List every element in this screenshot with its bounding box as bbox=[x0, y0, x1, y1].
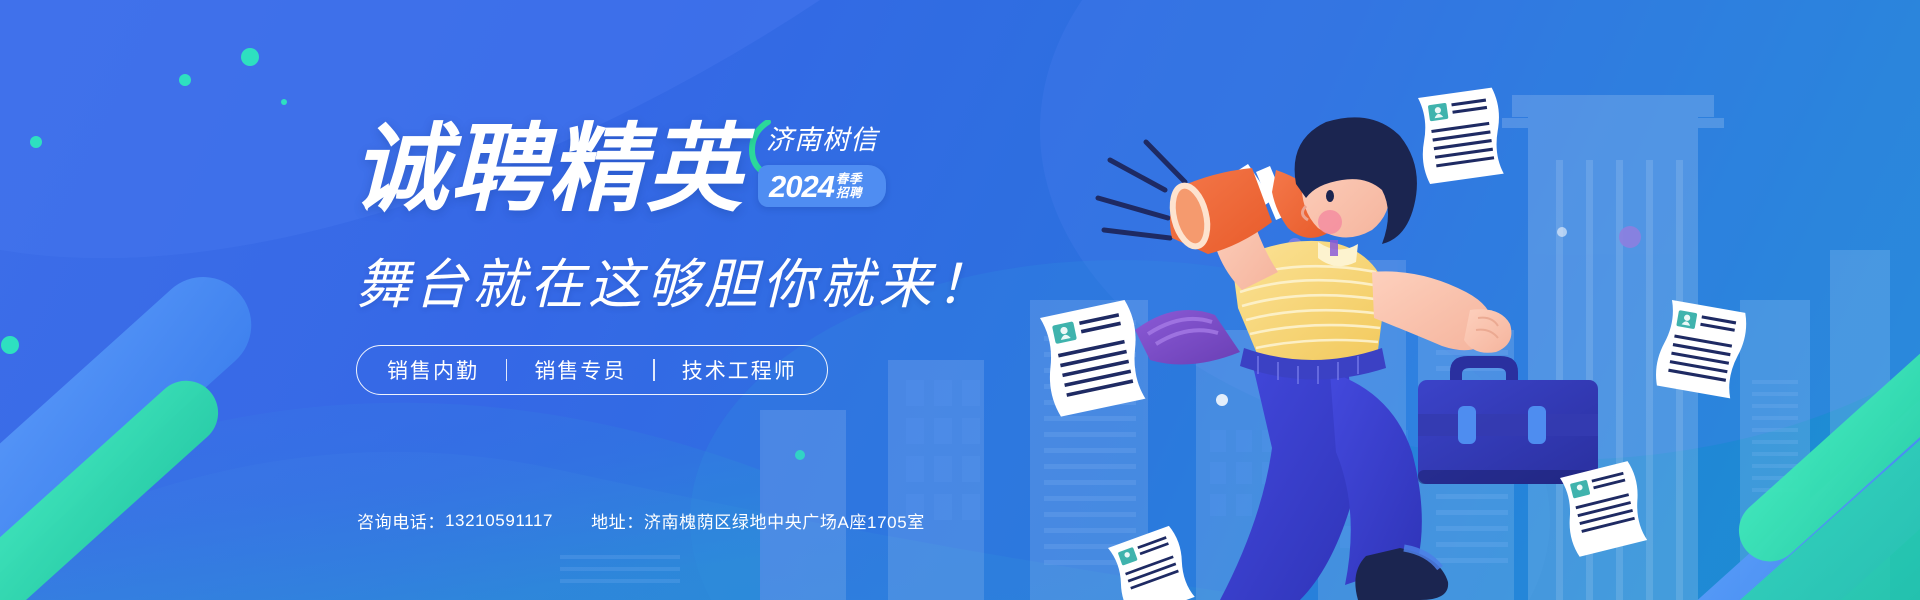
recruitment-banner: 诚聘精英 济南树信 2024 春季 招聘 舞台就在这够胆你就来！ 销售内勤 销 bbox=[0, 0, 1920, 600]
phone-value[interactable]: 13210591117 bbox=[445, 511, 553, 531]
tag-separator bbox=[506, 359, 507, 381]
badge-season-line1: 春季 bbox=[836, 172, 862, 186]
address-label: 地址： bbox=[591, 508, 644, 533]
badge-year: 2024 bbox=[769, 171, 834, 202]
tag-separator bbox=[653, 359, 654, 381]
job-tags-pill: 销售内勤 销售专员 技术工程师 bbox=[356, 345, 828, 395]
resume-paper-icon bbox=[1414, 87, 1507, 184]
year-badge: 2024 春季 招聘 bbox=[758, 165, 886, 207]
phone-label: 咨询电话： bbox=[357, 508, 445, 533]
badge-season: 春季 招聘 bbox=[836, 172, 862, 200]
brand-badge-group: 济南树信 2024 春季 招聘 bbox=[758, 124, 908, 207]
address-value: 济南槐荫区绿地中央广场A座1705室 bbox=[644, 508, 925, 533]
job-tag-sales-office[interactable]: 销售内勤 bbox=[387, 355, 479, 385]
resume-paper-icon bbox=[1036, 299, 1150, 417]
page-title: 诚聘精英 bbox=[352, 118, 744, 222]
job-tag-sales-rep[interactable]: 销售专员 bbox=[534, 355, 626, 385]
headline-row: 诚聘精英 济南树信 2024 春季 招聘 bbox=[352, 118, 1052, 222]
resume-paper-icon bbox=[1105, 525, 1198, 600]
badge-season-line2: 招聘 bbox=[836, 186, 862, 200]
subtitle: 舞台就在这够胆你就来！ bbox=[356, 240, 1052, 319]
banner-text-block: 诚聘精英 济南树信 2024 春季 招聘 舞台就在这够胆你就来！ 销售内勤 销 bbox=[352, 118, 1052, 395]
job-tag-engineer[interactable]: 技术工程师 bbox=[682, 355, 797, 385]
resume-paper-icon bbox=[1653, 299, 1749, 399]
brand-name: 济南树信 bbox=[766, 124, 908, 156]
contact-row: 咨询电话： 13210591117 地址： 济南槐荫区绿地中央广场A座1705室 bbox=[357, 508, 925, 533]
resume-paper-icon bbox=[1557, 460, 1651, 557]
